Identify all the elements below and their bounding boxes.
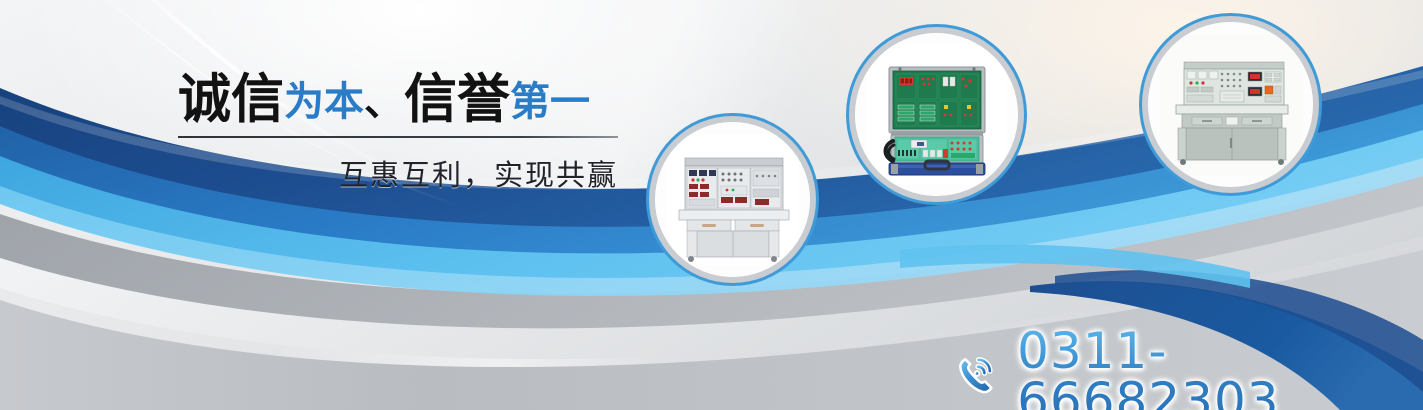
- headline-part-5: 第一: [510, 80, 590, 124]
- product-image-3: [1148, 22, 1313, 187]
- product-circle-3[interactable]: [1148, 22, 1313, 187]
- page-title: 诚信为本、信誉第一: [178, 72, 628, 128]
- product-circle-1[interactable]: [655, 122, 810, 277]
- contact-block[interactable]: 0311-66682303: [952, 326, 1423, 410]
- headline-punctuation: 、: [364, 80, 404, 124]
- electrical-training-workbench-icon: [667, 134, 799, 266]
- phone-icon[interactable]: [952, 350, 1003, 402]
- headline-part-4: 信誉: [404, 70, 510, 129]
- large-electrical-training-bench-icon: [1160, 34, 1302, 176]
- product-image-1: [655, 122, 810, 277]
- portable-electronics-training-case-icon: [867, 45, 1007, 185]
- headline-part-2: 为本: [284, 80, 364, 124]
- headline-block: 诚信为本、信誉第一 互惠互利，实现共赢: [178, 72, 628, 194]
- phone-number[interactable]: 0311-66682303: [1017, 326, 1423, 410]
- headline-divider: [178, 136, 618, 138]
- product-circle-2[interactable]: [855, 33, 1018, 196]
- headline-part-1: 诚信: [178, 70, 284, 129]
- promo-banner: 诚信为本、信誉第一 互惠互利，实现共赢: [0, 0, 1423, 410]
- subtitle: 互惠互利，实现共赢: [178, 152, 618, 194]
- product-image-2: [855, 33, 1018, 196]
